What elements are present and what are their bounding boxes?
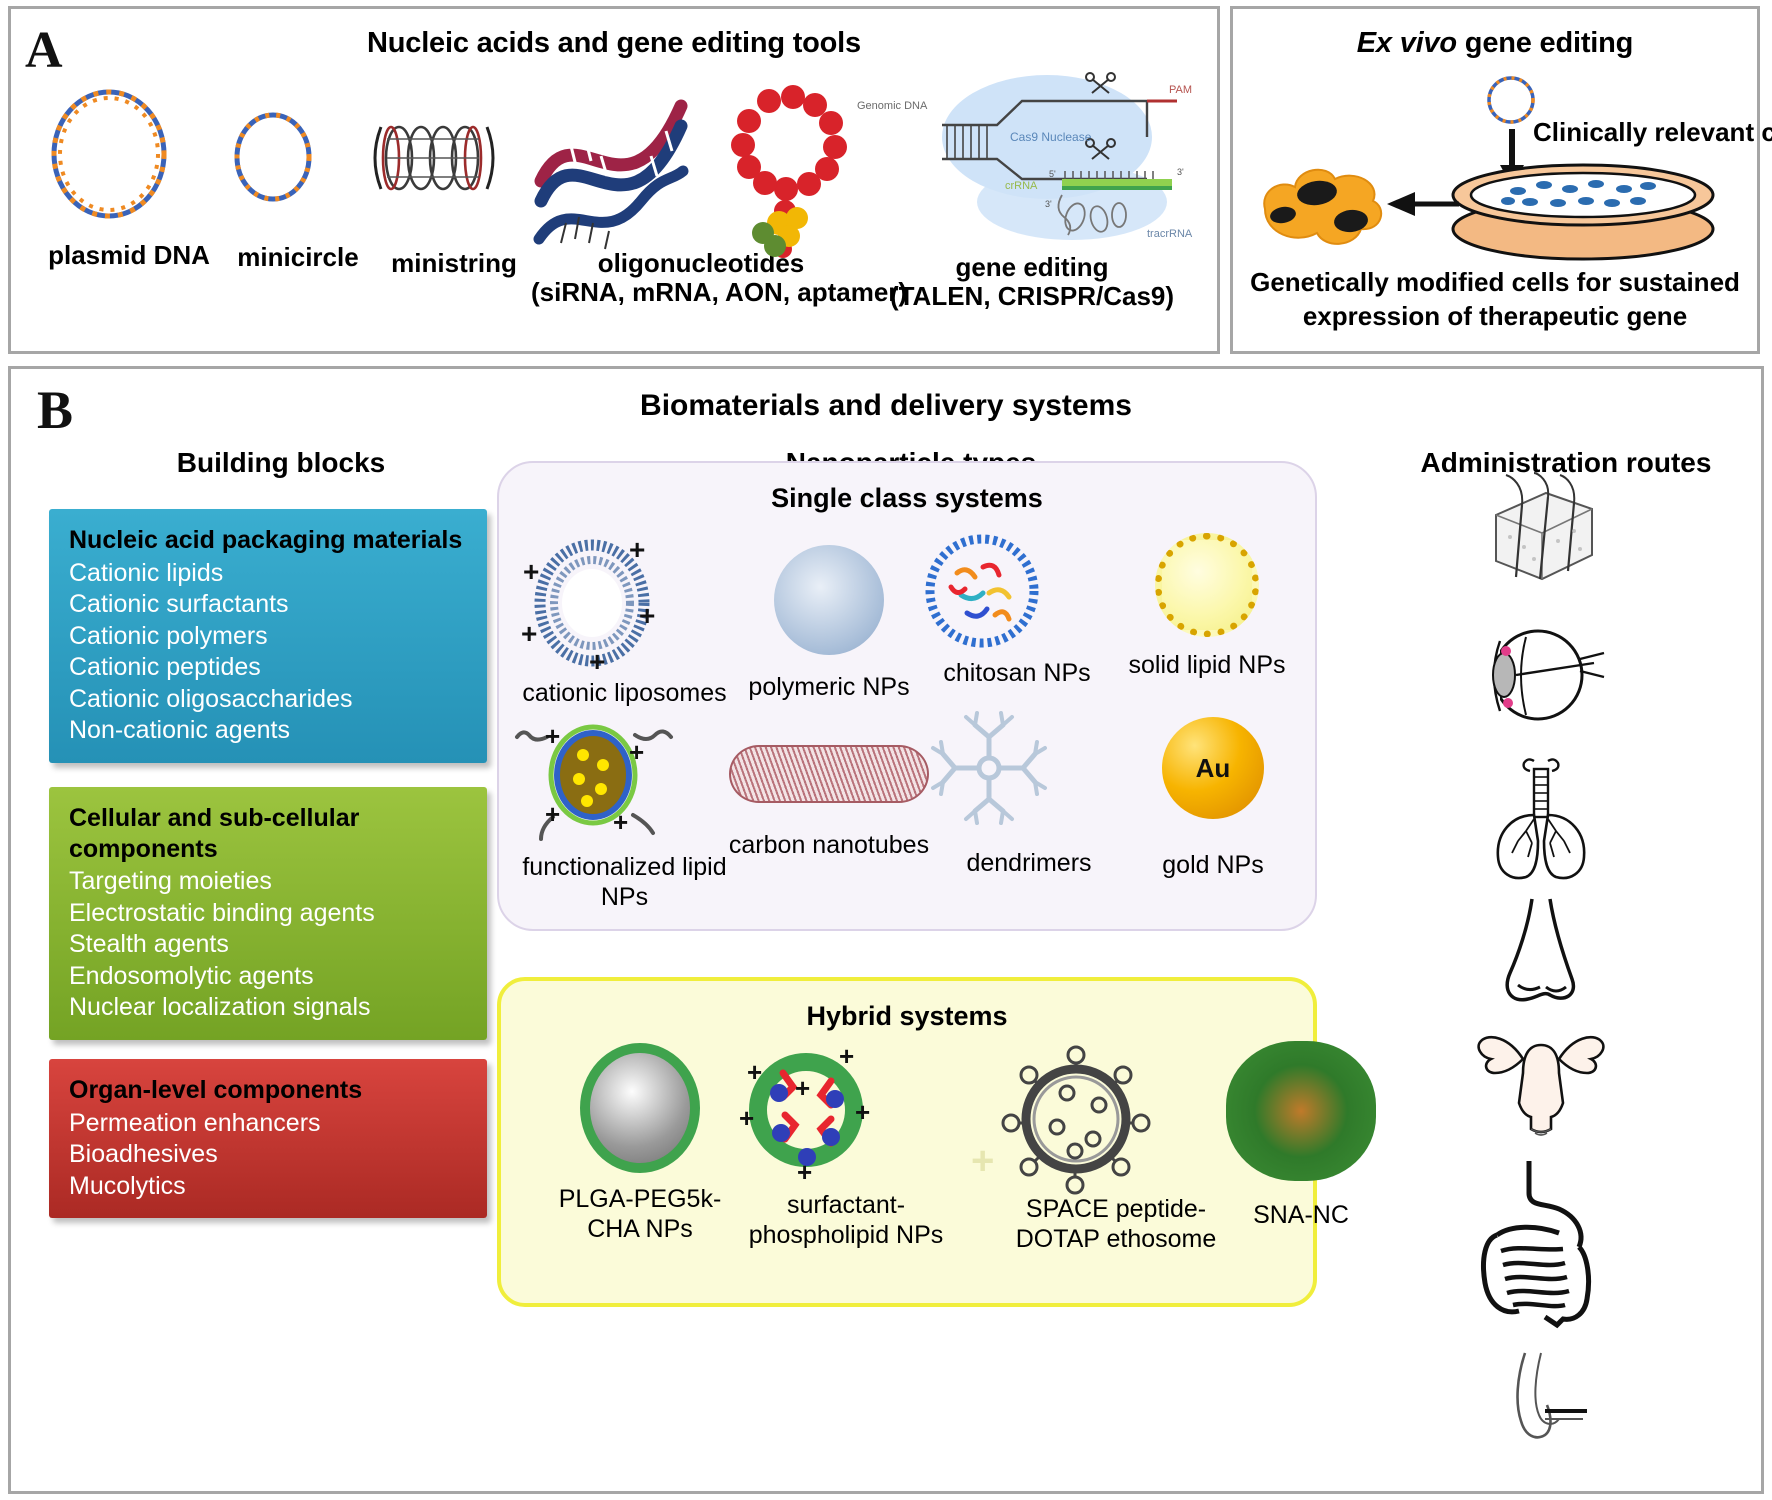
building-block-card-packaging: Nucleic acid packaging materials Cationi… (49, 509, 487, 763)
list-item: Stealth agents (69, 929, 487, 961)
single-class-systems-heading: Single class systems (499, 463, 1315, 514)
list-item: Bioadhesives (69, 1139, 487, 1171)
petri-dish-icon (1448, 157, 1718, 262)
np-chitosan: chitosan NPs (917, 533, 1117, 689)
label-gene-editing: gene editing (847, 253, 1217, 282)
np-solid-lipid: solid lipid NPs (1107, 533, 1307, 681)
functionalized-lipid-np-icon: ++ ++ (517, 713, 732, 843)
np-label: dendrimers (929, 849, 1129, 879)
space-dotap-ethosome-icon (1001, 1041, 1231, 1191)
carbon-nanotube-icon (729, 745, 929, 803)
gold-np-badge: Au (1196, 753, 1231, 784)
left-arrow-icon (1385, 187, 1459, 221)
np-functionalized-lipid: ++ ++ functionalized lipid NPs (517, 713, 732, 912)
hybrid-systems-card: Hybrid systems PLGA-PEG5k-CHA NPs (497, 977, 1317, 1307)
crispr-cas9-diagram-icon: Genomic DNA Cas9 Nuclease crRNA tracrRNA… (847, 67, 1217, 247)
skin-icon (1476, 475, 1606, 587)
list-item: Non-cationic agents (69, 715, 487, 747)
list-item: Targeting moieties (69, 866, 487, 898)
ex-vivo-title-italic: Ex vivo (1357, 27, 1457, 59)
list-item: Cationic polymers (69, 621, 487, 653)
svg-text:+: + (739, 1103, 754, 1133)
svg-text:+: + (589, 646, 605, 677)
np-label: polymeric NPs (729, 673, 929, 703)
modified-cells-icon (1255, 149, 1395, 254)
eye-icon (1476, 619, 1606, 729)
svg-text:Cas9 Nuclease: Cas9 Nuclease (1010, 130, 1092, 144)
svg-text:+: + (523, 556, 539, 587)
svg-text:5': 5' (1049, 169, 1056, 179)
list-item: Endosomolytic agents (69, 961, 487, 993)
svg-text:+: + (855, 1097, 870, 1127)
svg-text:+: + (545, 721, 560, 751)
building-block-list: Cationic lipids Cationic surfactants Cat… (69, 558, 487, 747)
np-label: carbon nanotubes (721, 831, 937, 861)
svg-text:+: + (629, 737, 644, 767)
label-plasmid-dna: plasmid DNA (39, 241, 219, 270)
clinically-relevant-cells-label: Clinically relevant cells (1533, 117, 1772, 148)
hybrid-connector-plus: + (971, 1139, 994, 1184)
item-oligonucleotides: oligonucleotides (siRNA, mRNA, AON, apta… (531, 71, 871, 307)
hybrid-space-dotap-ethosome: SPACE peptide-DOTAP ethosome (1001, 1041, 1231, 1254)
lungs-icon (1482, 757, 1600, 883)
np-label: gold NPs (1115, 851, 1311, 881)
item-gene-editing: Genomic DNA Cas9 Nuclease crRNA tracrRNA… (847, 67, 1217, 311)
np-label: cationic liposomes (517, 679, 732, 709)
building-block-list: Targeting moieties Electrostatic binding… (69, 866, 487, 1024)
np-label: SPACE peptide-DOTAP ethosome (1001, 1195, 1231, 1254)
svg-text:+: + (795, 1073, 810, 1103)
list-item: Cationic lipids (69, 558, 487, 590)
svg-text:Genomic DNA: Genomic DNA (857, 100, 928, 112)
liposome-icon: ++ +++ (517, 533, 732, 673)
svg-text:3': 3' (1045, 199, 1052, 209)
surfactant-phospholipid-np-icon: ++ ++ ++ (731, 1035, 961, 1185)
uterus-icon (1473, 1029, 1609, 1139)
ministring-helix-icon (369, 119, 539, 197)
plga-peg-cha-np-icon (580, 1043, 700, 1173)
building-block-heading: Organ-level components (69, 1075, 487, 1106)
svg-text:+: + (747, 1057, 762, 1087)
oligonucleotide-strands-icon (531, 71, 871, 243)
np-label: surfactant-phospholipid NPs (731, 1191, 961, 1250)
building-block-list: Permeation enhancers Bioadhesives Mucoly… (69, 1108, 487, 1203)
building-block-heading: Cellular and sub-cellular components (69, 803, 399, 864)
hybrid-surfactant-phospholipid: ++ ++ ++ surfactant-phospholipid NPs (731, 1035, 961, 1250)
panel-a-letter: A (25, 25, 63, 77)
building-block-card-cellular: Cellular and sub-cellular components Tar… (49, 787, 487, 1040)
list-item: Nuclear localization signals (69, 992, 487, 1024)
building-block-heading: Nucleic acid packaging materials (69, 525, 487, 556)
gastrointestinal-tract-icon (1467, 1159, 1615, 1329)
svg-text:+: + (797, 1157, 812, 1187)
list-item: Cationic surfactants (69, 589, 487, 621)
svg-text:+: + (629, 534, 645, 565)
sublabel-gene-editing: (TALEN, CRISPR/Cas9) (847, 282, 1217, 311)
panel-b-title: Biomaterials and delivery systems (11, 389, 1761, 423)
svg-text:crRNA: crRNA (1005, 180, 1038, 192)
np-label: chitosan NPs (917, 659, 1117, 689)
polymeric-np-icon (774, 545, 884, 655)
svg-text:PAM: PAM (1169, 84, 1192, 96)
svg-text:tracrRNA: tracrRNA (1147, 228, 1193, 240)
ex-vivo-title-rest: gene editing (1457, 27, 1633, 59)
label-ministring: ministring (369, 249, 539, 278)
panel-a-right-box: Ex vivo gene editing Clinically relevant… (1230, 6, 1760, 354)
list-item: Cationic oligosaccharides (69, 684, 487, 716)
item-plasmid-dna: plasmid DNA (39, 79, 219, 270)
column-title-building-blocks: Building blocks (131, 447, 431, 479)
panel-a-title: Nucleic acids and gene editing tools (11, 9, 1217, 60)
np-label: functionalized lipid NPs (517, 853, 732, 912)
chitosan-np-icon (917, 533, 1117, 651)
np-label: PLGA-PEG5k-CHA NPs (535, 1185, 745, 1244)
plasmid-dna-ring-icon (39, 79, 219, 229)
dendrimer-icon (929, 709, 1129, 827)
list-item: Electrostatic binding agents (69, 898, 487, 930)
ex-vivo-plasmid-icon (1483, 71, 1539, 129)
minicircle-ring-icon (223, 105, 373, 213)
svg-text:+: + (613, 807, 628, 837)
solid-lipid-np-icon (1155, 533, 1259, 637)
np-dendrimers: dendrimers (929, 709, 1129, 879)
np-polymeric: polymeric NPs (729, 545, 929, 703)
hybrid-plga-peg-cha: PLGA-PEG5k-CHA NPs (535, 1043, 745, 1244)
list-item: Permeation enhancers (69, 1108, 487, 1140)
item-minicircle: minicircle (223, 105, 373, 272)
gold-np-icon: Au (1162, 717, 1264, 819)
svg-text:+: + (521, 618, 537, 649)
ex-vivo-title: Ex vivo gene editing (1233, 9, 1757, 60)
panel-a-left-box: Nucleic acids and gene editing tools A p… (8, 6, 1220, 354)
np-label: solid lipid NPs (1107, 651, 1307, 681)
svg-text:3': 3' (1177, 167, 1184, 177)
list-item: Cationic peptides (69, 652, 487, 684)
label-oligonucleotides: oligonucleotides (531, 249, 871, 278)
panel-b-box: B Biomaterials and delivery systems Buil… (8, 366, 1764, 1494)
svg-text:+: + (639, 600, 655, 631)
ex-vivo-caption-line-2: expression of therapeutic gene (1233, 301, 1757, 332)
svg-text:+: + (839, 1041, 854, 1071)
sublabel-oligonucleotides: (siRNA, mRNA, AON, aptamer) (531, 278, 871, 307)
rectum-icon (1491, 1349, 1591, 1445)
panel-a-wrapper: Nucleic acids and gene editing tools A p… (8, 6, 1764, 356)
label-minicircle: minicircle (223, 243, 373, 272)
item-ministring: ministring (369, 119, 539, 278)
building-block-card-organ: Organ-level components Permeation enhanc… (49, 1059, 487, 1218)
np-gold: Au gold NPs (1115, 717, 1311, 881)
figure-root: Nucleic acids and gene editing tools A p… (0, 0, 1772, 1500)
list-item: Mucolytics (69, 1171, 487, 1203)
svg-text:+: + (545, 799, 560, 829)
ex-vivo-caption-line-1: Genetically modified cells for sustained (1233, 267, 1757, 298)
administration-routes-column (1341, 469, 1741, 1479)
np-cationic-liposomes: ++ +++ cationic liposomes (517, 533, 732, 709)
np-carbon-nanotubes: carbon nanotubes (721, 745, 937, 861)
single-class-systems-card: Single class systems ++ +++ cationic lip… (497, 461, 1317, 931)
hybrid-systems-heading: Hybrid systems (501, 981, 1313, 1032)
nose-icon (1498, 897, 1584, 1007)
